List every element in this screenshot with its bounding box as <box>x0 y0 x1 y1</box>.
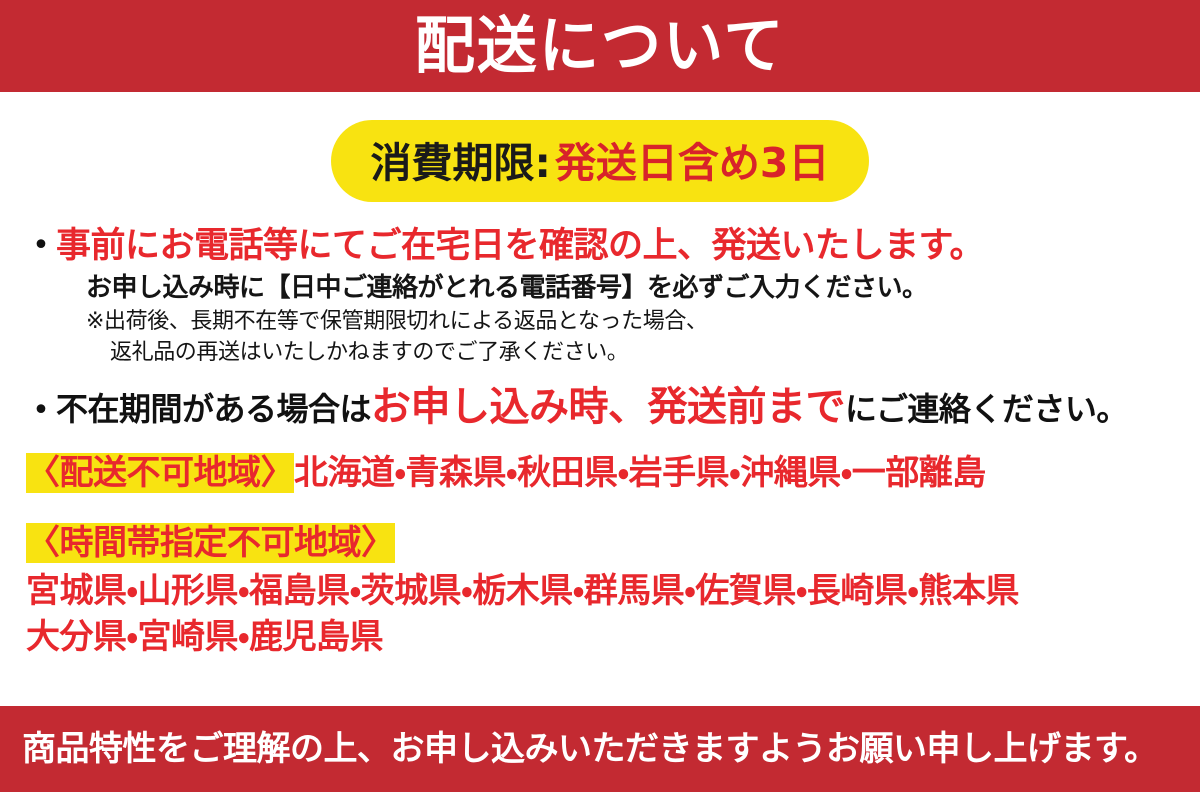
bullet-item-absence-period: • 不在期間がある場合は お申し込み時、発送前まで にご連絡ください。 <box>26 384 1174 433</box>
body-content: • 事前にお電話等にてご在宅日を確認の上、発送いたします。 お申し込み時に【日中… <box>0 224 1200 659</box>
no-time-slot-area-block: 〈時間帯指定不可地域〉 宮城県・山形県・福島県・茨城県・栃木県・群馬県・佐賀県・… <box>26 519 1174 659</box>
expiry-badge: 消費期限: 発送日含め3日 <box>331 120 870 202</box>
no-delivery-area-heading: 〈配送不可地域〉 <box>26 453 294 493</box>
bullet-item-advance-call: • 事前にお電話等にてご在宅日を確認の上、発送いたします。 <box>26 224 1174 268</box>
bullet-note-line-2: 返礼品の再送はいたしかねますのでご了承ください。 <box>110 337 1174 368</box>
no-time-slot-area-heading: 〈時間帯指定不可地域〉 <box>26 523 395 563</box>
page-title: 配送について <box>415 15 786 77</box>
no-delivery-area-block: 〈配送不可地域〉北海道・青森県・秋田県・岩手県・沖縄県・一部離島 <box>26 449 1174 497</box>
absence-emphasis-text: お申し込み時、発送前まで <box>371 384 845 430</box>
bullet-sub-text: お申し込み時に【日中ご連絡がとれる電話番号】を必ずご入力ください。 <box>86 270 1174 306</box>
absence-suffix-text: にご連絡ください。 <box>845 386 1128 432</box>
footer-message: 商品特性をご理解の上、お申し込みいただきますようお願い申し上げます。 <box>0 732 1158 766</box>
bullet-main-text: 事前にお電話等にてご在宅日を確認の上、発送いたします。 <box>56 224 984 268</box>
no-time-slot-area-list-line-1: 宮城県・山形県・福島県・茨城県・栃木県・群馬県・佐賀県・長崎県・熊本県 <box>26 569 1174 613</box>
bullet-note-line-1: ※出荷後、長期不在等で保管期限切れによる返品となった場合、 <box>86 306 1174 337</box>
absence-prefix-text: 不在期間がある場合は <box>56 386 371 432</box>
footer-bar: 商品特性をご理解の上、お申し込みいただきますようお願い申し上げます。 <box>0 706 1200 792</box>
bullet-dot-icon: • <box>26 389 56 433</box>
no-delivery-area-list: 北海道・青森県・秋田県・岩手県・沖縄県・一部離島 <box>294 453 986 493</box>
shipping-information-banner: 配送について 消費期限: 発送日含め3日 • 事前にお電話等にてご在宅日を確認の… <box>0 0 1200 800</box>
header-bar: 配送について <box>0 0 1200 92</box>
expiry-badge-label: 消費期限: <box>371 129 551 189</box>
expiry-badge-value: 発送日含め3日 <box>555 129 830 189</box>
no-time-slot-area-list-line-2: 大分県・宮崎県・鹿児島県 <box>26 615 1174 659</box>
bullet-dot-icon: • <box>26 224 56 268</box>
expiry-badge-wrap: 消費期限: 発送日含め3日 <box>0 120 1200 202</box>
